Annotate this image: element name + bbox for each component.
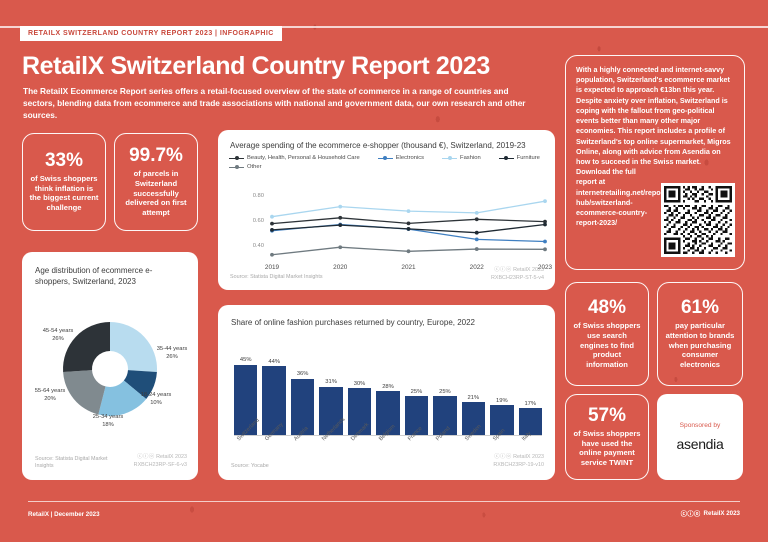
intro-paragraph: The RetailX Ecommerce Report series offe… bbox=[23, 86, 528, 121]
pie-slice-label: 55-64 years20% bbox=[22, 388, 78, 404]
line-chart-plot: 0.800.600.4020192020202120222023 bbox=[218, 130, 555, 290]
stat-card-brand-attention: 61% pay particular attention to brands w… bbox=[657, 282, 743, 386]
pie-label-text: 18-24 years bbox=[141, 392, 172, 398]
bar-column: 25% bbox=[405, 345, 428, 435]
bar-category-label: France bbox=[405, 436, 428, 470]
bar-chart-card: Share of online fashion purchases return… bbox=[218, 305, 555, 480]
bar-column: 44% bbox=[262, 345, 285, 435]
bar bbox=[519, 408, 542, 435]
creative-commons-icon: ⓒⓘⓞ bbox=[137, 454, 154, 460]
bar-value-label: 28% bbox=[382, 384, 394, 390]
sponsor-card: Sponsored by asendia bbox=[657, 394, 743, 480]
pie-label-value: 26% bbox=[52, 336, 64, 342]
bar-value-label: 44% bbox=[268, 359, 280, 365]
donut-chart-credit: ⓒⓘⓞ RetailX 2023 RXBCH23RP-SF-6-v3 bbox=[134, 454, 187, 470]
pie-label-value: 18% bbox=[102, 422, 114, 428]
donut-chart-card: Age distribution of ecommerce e-shoppers… bbox=[22, 252, 198, 480]
bar-value-label: 19% bbox=[496, 398, 508, 404]
stat-caption: of Swiss shoppers use search engines to … bbox=[572, 321, 642, 370]
bar-category-label: Sweden bbox=[462, 436, 485, 470]
x-axis-tick: 2020 bbox=[320, 264, 360, 271]
stat-caption: pay particular attention to brands when … bbox=[664, 321, 736, 370]
line-chart-card: Average spending of the ecommerce e-shop… bbox=[218, 130, 555, 290]
pie-slice-label: 18-24 years10% bbox=[128, 392, 184, 408]
pie-slice-label: 45-54 years26% bbox=[30, 328, 86, 344]
footer-left-text: RetailX | December 2023 bbox=[28, 511, 100, 518]
bar-column: 25% bbox=[433, 345, 456, 435]
asendia-logo: asendia bbox=[677, 436, 724, 452]
pie-label-text: 25-34 years bbox=[93, 414, 124, 420]
stat-number: 48% bbox=[588, 298, 626, 318]
stat-caption: of parcels in Switzerland successfully d… bbox=[121, 169, 191, 218]
stat-caption: of Swiss shoppers think inflation is the… bbox=[29, 174, 99, 213]
line-chart-credit: ⓒⓘⓞ RetailX 2023 RXBCH23RP-ST-5-v4 bbox=[491, 267, 544, 283]
download-link-text[interactable]: Download the full report at internetreta… bbox=[576, 167, 650, 228]
credit-text: RetailX 2023 bbox=[156, 454, 187, 460]
stat-caption: of Swiss shoppers have used the online p… bbox=[572, 429, 642, 468]
stat-number: 61% bbox=[681, 298, 719, 318]
bar-value-label: 30% bbox=[354, 381, 366, 387]
bar-category-label: Netherlands bbox=[319, 436, 342, 470]
bar-column: 19% bbox=[490, 345, 513, 435]
footer-credit-text: RetailX 2023 bbox=[704, 510, 740, 517]
donut-chart-plot: 35-44 years26%18-24 years10%25-34 years1… bbox=[22, 296, 198, 446]
chart-code: RXBCH23RP-ST-5-v4 bbox=[491, 275, 544, 283]
donut-chart-source: Source: Statista Digital Market Insights bbox=[35, 456, 127, 470]
bar-value-label: 45% bbox=[240, 357, 252, 363]
footer-divider bbox=[28, 501, 740, 502]
bar-category-label: Denmark bbox=[348, 436, 371, 470]
bar-chart-credit: ⓒⓘⓞ RetailX 2023 RXBCH23RP-19-v10 bbox=[493, 454, 544, 470]
stat-number: 57% bbox=[588, 406, 626, 426]
bar-column: 17% bbox=[519, 345, 542, 435]
creative-commons-icon: ⓒⓘⓞ bbox=[681, 509, 701, 518]
y-axis-tick: 0.60 bbox=[240, 218, 264, 224]
creative-commons-icon: ⓒⓘⓞ bbox=[494, 454, 511, 460]
stat-number: 33% bbox=[45, 151, 83, 171]
pie-label-text: 35-44 years bbox=[157, 346, 188, 352]
pie-slice-label: 25-34 years18% bbox=[80, 414, 136, 430]
bar-column: 36% bbox=[291, 345, 314, 435]
y-axis-tick: 0.80 bbox=[240, 193, 264, 199]
pie-label-value: 20% bbox=[44, 396, 56, 402]
bar-value-label: 21% bbox=[468, 395, 480, 401]
stat-card-parcels: 99.7% of parcels in Switzerland successf… bbox=[114, 133, 198, 231]
footer-right-credit: ⓒⓘⓞ RetailX 2023 bbox=[681, 509, 740, 518]
bar-chart-title: Share of online fashion purchases return… bbox=[231, 318, 475, 329]
bar-category-label: Poland bbox=[433, 436, 456, 470]
qr-code[interactable] bbox=[661, 183, 735, 257]
stat-card-search-engines: 48% of Swiss shoppers use search engines… bbox=[565, 282, 649, 386]
summary-panel: With a highly connected and internet-sav… bbox=[565, 55, 745, 270]
bar-value-label: 17% bbox=[524, 401, 536, 407]
page-title: RetailX Switzerland Country Report 2023 bbox=[22, 52, 490, 81]
chart-code: RXBCH23RP-SF-6-v3 bbox=[134, 462, 187, 470]
bar-column: 30% bbox=[348, 345, 371, 435]
bar-category-label: Belgium bbox=[376, 436, 399, 470]
bar-column: 21% bbox=[462, 345, 485, 435]
pie-label-value: 10% bbox=[150, 400, 162, 406]
donut-chart-title: Age distribution of ecommerce e-shoppers… bbox=[35, 266, 187, 288]
pie-label-value: 26% bbox=[166, 354, 178, 360]
stat-card-inflation: 33% of Swiss shoppers think inflation is… bbox=[22, 133, 106, 231]
bar-category-label: Austria bbox=[291, 436, 314, 470]
credit-text: RetailX 2023 bbox=[513, 454, 544, 460]
stat-card-twint: 57% of Swiss shoppers have used the onli… bbox=[565, 394, 649, 480]
sponsored-by-label: Sponsored by bbox=[680, 422, 721, 429]
bar-value-label: 25% bbox=[411, 389, 423, 395]
pie-label-text: 45-54 years bbox=[43, 328, 74, 334]
x-axis-tick: 2021 bbox=[389, 264, 429, 271]
creative-commons-icon: ⓒⓘⓞ bbox=[494, 267, 511, 273]
bar-column: 28% bbox=[376, 345, 399, 435]
summary-text: With a highly connected and internet-sav… bbox=[576, 65, 734, 167]
chart-code: RXBCH23RP-19-v10 bbox=[493, 462, 544, 470]
bar-value-label: 31% bbox=[325, 379, 337, 385]
report-kicker-badge: RETAILX SWITZERLAND COUNTRY REPORT 2023 … bbox=[20, 26, 282, 41]
credit-text: RetailX 2023 bbox=[513, 267, 544, 273]
pie-slice-label: 35-44 years26% bbox=[144, 346, 200, 362]
line-chart-source: Source: Statista Digital Market Insights bbox=[230, 274, 430, 281]
bar-chart-source: Source: Yocabe bbox=[231, 463, 269, 470]
y-axis-tick: 0.40 bbox=[240, 243, 264, 249]
stat-number: 99.7% bbox=[129, 146, 183, 166]
bar-value-label: 36% bbox=[297, 371, 309, 377]
bar-value-label: 25% bbox=[439, 389, 451, 395]
pie-label-text: 55-64 years bbox=[35, 388, 66, 394]
x-axis-tick: 2019 bbox=[252, 264, 292, 271]
